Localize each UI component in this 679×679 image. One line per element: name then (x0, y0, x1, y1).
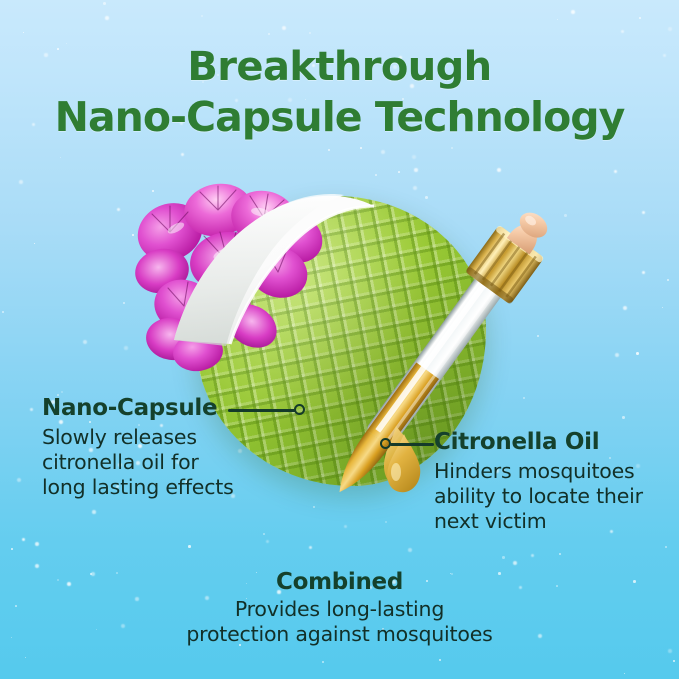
callout-citronella-body: Hinders mosquitoes ability to locate the… (434, 459, 666, 534)
callout-combined-body-line-1: Provides long-lasting (0, 597, 679, 622)
callout-combined-body: Provides long-lasting protection against… (0, 597, 679, 647)
callout-citronella-body-line-3: next victim (434, 509, 666, 534)
citronella-leader-stroke (390, 443, 434, 446)
callout-citronella-heading: Citronella Oil (434, 428, 666, 456)
callout-citronella-body-line-2: ability to locate their (434, 484, 666, 509)
callout-combined: Combined Provides long-lasting protectio… (0, 568, 679, 647)
callout-nano-body: Slowly releases citronella oil for long … (42, 425, 257, 500)
leader-line-citronella (380, 436, 436, 454)
callout-citronella-body-line-1: Hinders mosquitoes (434, 459, 666, 484)
callout-nano-capsule: Nano-Capsule Slowly releases citronella … (42, 394, 257, 500)
infographic-canvas: Breakthrough Nano-Capsule Technology (0, 0, 679, 679)
callout-nano-body-line-1: Slowly releases (42, 425, 257, 450)
callout-nano-body-line-3: long lasting effects (42, 475, 257, 500)
callout-combined-heading: Combined (0, 568, 679, 597)
callout-combined-body-line-2: protection against mosquitoes (0, 622, 679, 647)
callout-nano-heading: Nano-Capsule (42, 394, 257, 422)
nano-leader-endpoint (294, 404, 305, 415)
callout-nano-body-line-2: citronella oil for (42, 450, 257, 475)
callout-citronella-oil: Citronella Oil Hinders mosquitoes abilit… (434, 428, 666, 534)
